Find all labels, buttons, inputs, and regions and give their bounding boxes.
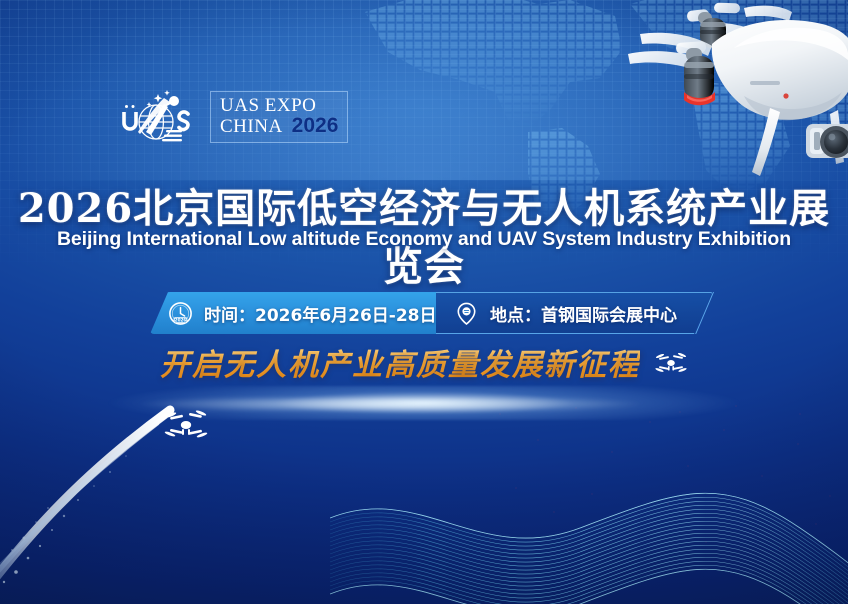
logo-year-text: 2026: [292, 115, 339, 136]
logo-line-uas-expo: UAS EXPO: [220, 96, 338, 115]
uas-globe-logo: [118, 88, 200, 146]
speckle-noise: [480, 400, 848, 560]
drone-icon: [654, 349, 688, 375]
event-venue-text: 地点：首钢国际会展中心: [490, 301, 677, 326]
event-date-block: 2026 时间：2026年6月26日-28日: [150, 292, 436, 334]
page-title-english: Beijing International Low altitude Econo…: [0, 228, 848, 251]
quadcopter-drone: [584, 0, 848, 186]
event-date-text: 时间：2026年6月26日-28日: [204, 301, 437, 326]
horizon-glow-core: [0, 398, 848, 410]
event-info-bar: 2026 时间：2026年6月26日-28日 地点：首钢国际会展中心: [150, 292, 712, 334]
logo-text-box: UAS EXPO CHINA 2026: [210, 91, 348, 143]
slogan-row: 开启无人机产业高质量发展新征程: [0, 340, 848, 384]
wave-line-mesh: [330, 470, 848, 604]
drone-silhouette: [162, 404, 210, 444]
slogan-text: 开启无人机产业高质量发展新征程: [160, 340, 640, 384]
logo-china-text: CHINA: [220, 117, 283, 136]
logo-lockup: UAS EXPO CHINA 2026: [118, 88, 348, 146]
map-pin-icon: [454, 301, 479, 326]
light-trail-swoosh: [0, 400, 320, 604]
clock-icon: 2026: [168, 301, 193, 326]
event-venue-block: 地点：首钢国际会展中心: [436, 292, 712, 334]
exhibition-banner: UAS EXPO CHINA 2026 2026北京国际低空经济与无人机系统产业…: [0, 0, 848, 604]
horizon-glow: [0, 386, 848, 420]
logo-line-china-year: CHINA 2026: [220, 115, 338, 136]
svg-text:2026: 2026: [175, 317, 187, 322]
